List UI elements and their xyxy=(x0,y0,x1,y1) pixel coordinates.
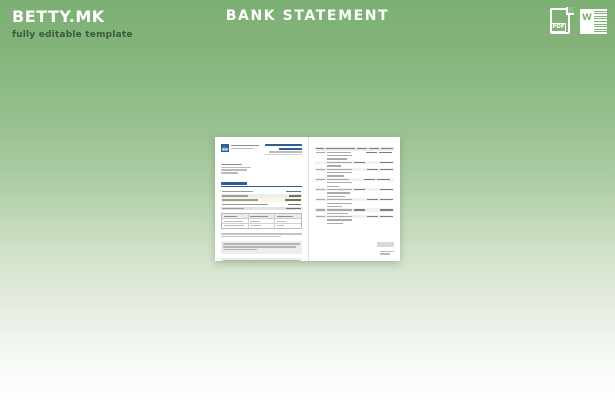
notice-box-secondary xyxy=(221,258,302,261)
summary-row xyxy=(221,203,302,206)
notice-box xyxy=(221,241,302,253)
bank-emblem-icon xyxy=(221,144,229,152)
word-file-icon[interactable]: W xyxy=(580,8,605,37)
summary-row-highlight xyxy=(221,198,302,201)
pdf-label: PDF xyxy=(551,23,566,32)
statement-page-one[interactable] xyxy=(215,137,308,261)
template-preview-canvas: BETTY.MK fully editable template BANK ST… xyxy=(0,0,615,400)
rate-summary-table xyxy=(221,213,302,229)
bank-logo xyxy=(221,144,259,152)
summary-row xyxy=(221,194,302,197)
pdf-fold-corner-icon xyxy=(566,7,574,15)
word-label: W xyxy=(580,13,594,23)
activity-summary-list xyxy=(221,190,302,211)
statement-page-two[interactable] xyxy=(308,137,401,261)
statement-header xyxy=(221,144,302,157)
page-number-footer xyxy=(380,251,394,256)
page-title: BANK STATEMENT xyxy=(0,8,615,24)
activity-summary-rule xyxy=(221,186,302,187)
table-row xyxy=(315,222,395,225)
disclosure-paragraph xyxy=(221,233,302,237)
format-icons-group: PDF W xyxy=(548,8,605,37)
customer-address-block xyxy=(221,164,251,174)
page-two-stamp xyxy=(377,242,394,247)
summary-row xyxy=(221,190,302,193)
transactions-table-continued xyxy=(315,147,395,225)
table-row xyxy=(222,224,301,229)
pdf-file-icon[interactable]: PDF xyxy=(548,8,573,37)
brand-tagline: fully editable template xyxy=(12,30,232,41)
activity-summary-heading xyxy=(221,182,247,185)
bank-name-text xyxy=(231,144,259,151)
statement-document-preview[interactable] xyxy=(215,137,400,261)
statement-title-block xyxy=(265,144,302,157)
word-page-lines-icon xyxy=(594,8,607,35)
summary-row-total xyxy=(221,207,302,210)
